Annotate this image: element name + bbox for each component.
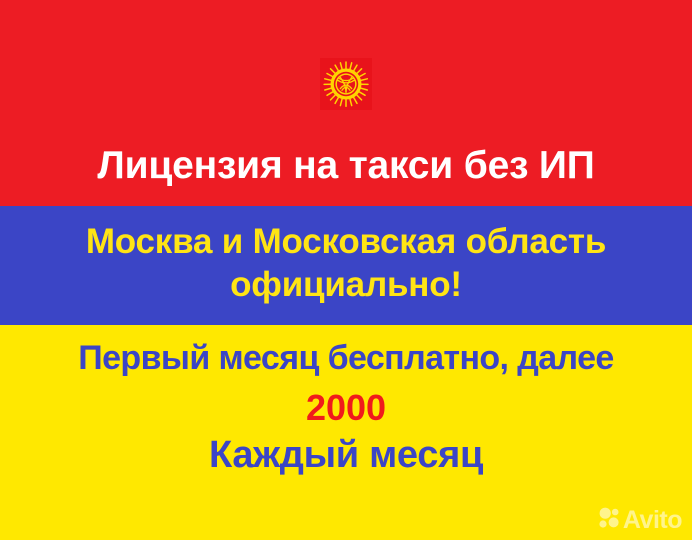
red-band: Лицензия на такси без ИП	[0, 0, 692, 206]
avito-wordmark: Avito	[623, 508, 682, 533]
region-headline: Москва и Московская область официально!	[0, 220, 692, 306]
avito-watermark: Avito	[598, 507, 682, 534]
yellow-band: Первый месяц бесплатно, далее 2000 Кажды…	[0, 325, 692, 540]
advertisement-banner: Лицензия на такси без ИП Москва и Москов…	[0, 0, 692, 540]
page-title: Лицензия на такси без ИП	[0, 142, 692, 190]
region-headline-line1: Москва и Московская область	[86, 222, 606, 261]
avito-dots-icon	[598, 507, 620, 534]
price-value: 2000	[0, 387, 692, 429]
price-period: Каждый месяц	[0, 432, 692, 478]
region-headline-line2: официально!	[0, 263, 692, 306]
offer-text: Первый месяц бесплатно, далее	[0, 337, 692, 379]
blue-band: Москва и Московская область официально!	[0, 206, 692, 325]
kyrgyzstan-flag-emblem-icon	[320, 58, 372, 110]
